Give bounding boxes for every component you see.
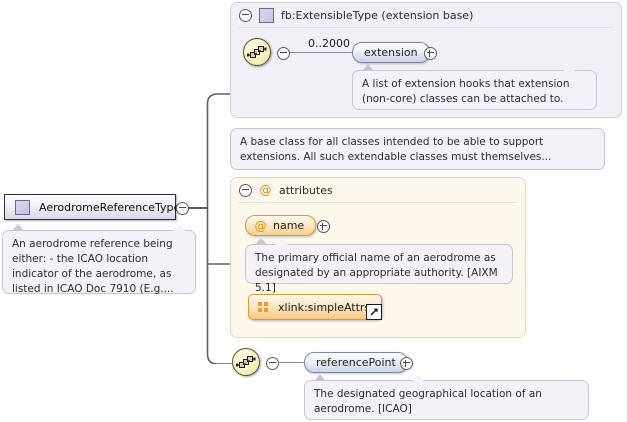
element-node-reference-point[interactable]: referencePoint xyxy=(304,352,408,373)
connector-extension xyxy=(290,52,353,53)
connector-tree xyxy=(186,44,232,364)
panel-divider xyxy=(239,202,517,203)
sequence-icon-extension[interactable] xyxy=(243,38,271,66)
attribute-group-node-xlink-simpleattrs[interactable]: xlink:simpleAttrs xyxy=(248,294,382,320)
complex-type-icon xyxy=(15,200,30,215)
attributes-header: @ attributes xyxy=(231,178,333,202)
annotation-extension-base: A base class for all classes intended to… xyxy=(230,128,605,170)
panel-divider xyxy=(239,27,613,28)
annotation-reference-point-text: The designated geographical location of … xyxy=(314,388,542,415)
collapse-icon-extension-sequence[interactable] xyxy=(277,47,290,60)
extension-base-header: fb:ExtensibleType (extension base) xyxy=(231,3,473,27)
sequence-glyph xyxy=(247,43,267,61)
collapse-icon-reference-point-sequence[interactable] xyxy=(266,357,279,370)
at-icon-name: @ xyxy=(254,219,267,232)
attribute-label-name: name xyxy=(273,219,304,232)
expand-icon-reference-point[interactable] xyxy=(400,357,413,370)
root-type-label: AerodromeReferenceType xyxy=(39,201,180,214)
connector-reference-point xyxy=(279,362,305,363)
cardinality-extension: 0..2000 xyxy=(308,37,350,50)
external-link-icon[interactable] xyxy=(366,304,382,320)
at-icon-attributes: @ xyxy=(259,184,272,197)
attribute-group-icon xyxy=(257,301,270,314)
collapse-icon-root-type[interactable] xyxy=(176,202,189,215)
attribute-group-label: xlink:simpleAttrs xyxy=(278,301,370,314)
complex-type-icon xyxy=(259,8,274,23)
expand-icon-name[interactable] xyxy=(317,220,330,233)
collapse-icon-attributes[interactable] xyxy=(239,184,252,197)
annotation-name: The primary official name of an aerodrom… xyxy=(245,244,513,284)
annotation-extension-text: A list of extension hooks that extension… xyxy=(362,78,570,105)
schema-diagram-canvas: fb:ExtensibleType (extension base) 0 xyxy=(0,0,628,422)
annotation-extension: A list of extension hooks that extension… xyxy=(352,70,597,110)
root-type-box[interactable]: AerodromeReferenceType xyxy=(4,194,176,220)
sequence-icon-reference-point[interactable] xyxy=(232,348,260,376)
expand-icon-extension[interactable] xyxy=(424,47,437,60)
attributes-header-label: attributes xyxy=(279,184,333,197)
sequence-glyph xyxy=(236,353,256,371)
annotation-root-type: An aerodrome reference being either: - t… xyxy=(2,230,196,294)
annotation-extension-base-text: A base class for all classes intended to… xyxy=(240,136,551,163)
attribute-node-name[interactable]: @ name xyxy=(245,215,316,236)
element-label-reference-point: referencePoint xyxy=(316,356,396,369)
external-link-arrow-glyph xyxy=(369,307,379,317)
annotation-reference-point: The designated geographical location of … xyxy=(304,380,589,420)
element-label-extension: extension xyxy=(364,46,418,59)
annotation-root-type-text: An aerodrome reference being either: - t… xyxy=(12,238,174,295)
collapse-icon-extension-base[interactable] xyxy=(239,9,252,22)
extension-base-header-label: fb:ExtensibleType (extension base) xyxy=(281,9,473,22)
element-node-extension[interactable]: extension xyxy=(352,42,430,63)
